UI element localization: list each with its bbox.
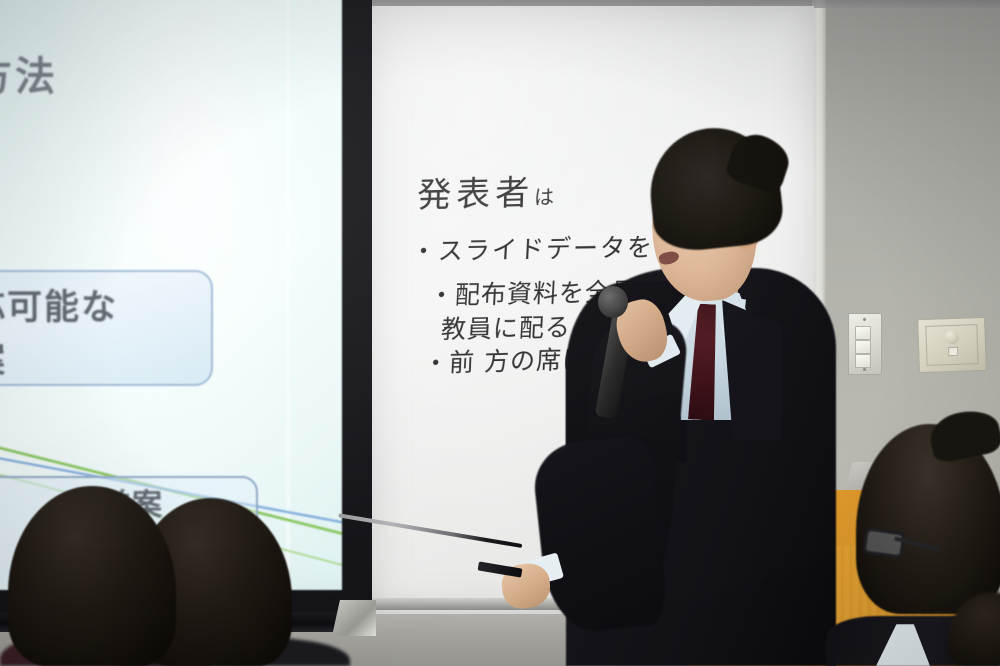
- whiteboard-heading-suffix: は: [534, 185, 560, 210]
- whiteboard-line-4: ・前 方の席に移動: [422, 338, 640, 380]
- screen-seam: [286, 0, 290, 590]
- slide-callout-text: 応可能な 案: [0, 282, 118, 387]
- whiteboard-heading: 発表者は: [417, 165, 560, 218]
- photo-scene: 発表者は ・スライドデータを 会場PC ・配布資料を全員分 教員に配る ・前 方…: [0, 0, 1000, 666]
- light-switch-button-2[interactable]: [855, 340, 871, 354]
- switch-screw-bottom: [863, 368, 866, 371]
- whiteboard-line-2: ・配布資料を全員分: [428, 272, 664, 312]
- light-switch-button-3[interactable]: [855, 354, 871, 368]
- whiteboard-heading-main: 発表者: [417, 173, 535, 216]
- wall-dimmer-control[interactable]: [917, 317, 987, 373]
- wall-light-switch[interactable]: [848, 313, 882, 375]
- glasses-icon: [862, 527, 905, 558]
- whiteboard-line-1: ・スライドデータを 会場PC: [410, 226, 755, 268]
- slide-title: 方法: [0, 44, 58, 102]
- light-switch-button-1[interactable]: [855, 326, 871, 340]
- switch-screw-top: [863, 318, 866, 321]
- dimmer-indicator: [948, 347, 958, 356]
